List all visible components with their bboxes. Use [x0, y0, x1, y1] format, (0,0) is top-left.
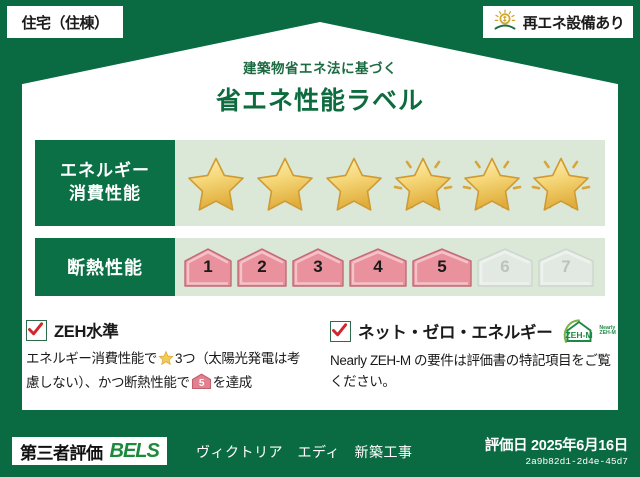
- evaluation-date-value: 2025年6月16日: [531, 438, 628, 454]
- net-zero-checkbox[interactable]: [330, 321, 351, 342]
- insulation-grade-badge: 5: [411, 247, 473, 287]
- evaluation-date-label: 評価日: [485, 438, 528, 454]
- insulation-grade-badge: 7: [537, 247, 595, 287]
- evaluation-info: 評価日 2025年6月16日 2a9b82d1-2d4e-45d7: [485, 434, 628, 467]
- inline-star-icon: [158, 350, 174, 373]
- zeh-m-logo-sub2: ZEH-M: [599, 331, 615, 336]
- zeh-standard-block: ZEH水準 エネルギー消費性能で3つ（太陽光発電は考慮しない）、かつ断熱性能で5…: [26, 318, 312, 397]
- zeh-standard-head: ZEH水準: [26, 318, 312, 342]
- sun-renewable-icon: [492, 9, 518, 36]
- zeh-body-part4: を達成: [213, 375, 252, 390]
- energy-label-card: 住宅（住棟） 再エネ設備あり 建築物省エネ法に基づく 省: [0, 0, 640, 477]
- energy-label-line1: エネルギー: [60, 160, 150, 183]
- zeh-standard-checkbox[interactable]: [26, 320, 47, 341]
- energy-label-line2: 消費性能: [69, 183, 141, 206]
- insulation-grade-badge: 3: [291, 247, 345, 287]
- building-type-tag: 住宅（住棟）: [6, 5, 124, 39]
- zeh-standard-title: ZEH水準: [54, 318, 119, 342]
- insulation-performance-label: 断熱性能: [35, 238, 175, 296]
- insulation-performance-row: 断熱性能 1234567: [35, 238, 605, 296]
- bels-badge: 第三者評価 BELS: [12, 437, 167, 465]
- star-icon: [526, 150, 595, 216]
- insulation-grade-badge: 4: [348, 247, 408, 287]
- inline-grade-badge-icon: 5: [191, 373, 212, 397]
- star-icon: [388, 150, 457, 216]
- title-main: 省エネ性能ラベル: [0, 81, 640, 117]
- renewable-label: 再エネ設備あり: [523, 12, 625, 33]
- svg-text:5: 5: [198, 378, 204, 389]
- evaluation-date: 評価日 2025年6月16日: [485, 434, 628, 455]
- zeh-m-logo-icon: ZEH-M Nearly ZEH-M: [561, 318, 615, 344]
- star-icon: [181, 150, 250, 216]
- insulation-grade-badge: 6: [476, 247, 534, 287]
- title-subtitle: 建築物省エネ法に基づく: [0, 57, 640, 77]
- net-zero-title: ネット・ゼロ・エネルギー: [358, 319, 552, 343]
- third-party-label: 第三者評価: [20, 439, 103, 464]
- net-zero-body: Nearly ZEH-M の要件は評価書の特記項目をご覧ください。: [330, 351, 616, 393]
- footer-bar: 第三者評価 BELS ヴィクトリア エディ 新築工事 評価日 2025年6月16…: [0, 432, 640, 477]
- zeh-standard-body: エネルギー消費性能で3つ（太陽光発電は考慮しない）、かつ断熱性能で5を達成: [26, 349, 312, 397]
- criteria-section: ZEH水準 エネルギー消費性能で3つ（太陽光発電は考慮しない）、かつ断熱性能で5…: [26, 318, 616, 397]
- zeh-body-part2: 3つ（太陽光発電: [175, 351, 274, 366]
- building-type-label: 住宅（住棟）: [21, 12, 108, 33]
- bels-logo: BELS: [110, 440, 159, 463]
- renewable-equipment-tag: 再エネ設備あり: [482, 5, 634, 39]
- evaluation-id: 2a9b82d1-2d4e-45d7: [485, 456, 628, 467]
- insulation-grade-badge: 1: [183, 247, 233, 287]
- energy-performance-row: エネルギー 消費性能: [35, 140, 605, 226]
- title-block: 建築物省エネ法に基づく 省エネ性能ラベル: [0, 57, 640, 117]
- star-rating: [175, 150, 605, 216]
- net-zero-head: ネット・ゼロ・エネルギー ZEH-M Nearly ZEH-M: [330, 318, 616, 344]
- star-icon: [319, 150, 388, 216]
- insulation-grade-badges: 1234567: [175, 247, 605, 287]
- energy-performance-label: エネルギー 消費性能: [35, 140, 175, 226]
- property-name: ヴィクトリア エディ 新築工事: [196, 442, 413, 462]
- svg-text:ZEH-M: ZEH-M: [566, 330, 593, 340]
- star-icon: [250, 150, 319, 216]
- zeh-body-part1: エネルギー消費性能で: [26, 351, 157, 366]
- net-zero-energy-block: ネット・ゼロ・エネルギー ZEH-M Nearly ZEH-M Nearly Z…: [330, 318, 616, 397]
- star-icon: [457, 150, 526, 216]
- insulation-grade-badge: 2: [236, 247, 288, 287]
